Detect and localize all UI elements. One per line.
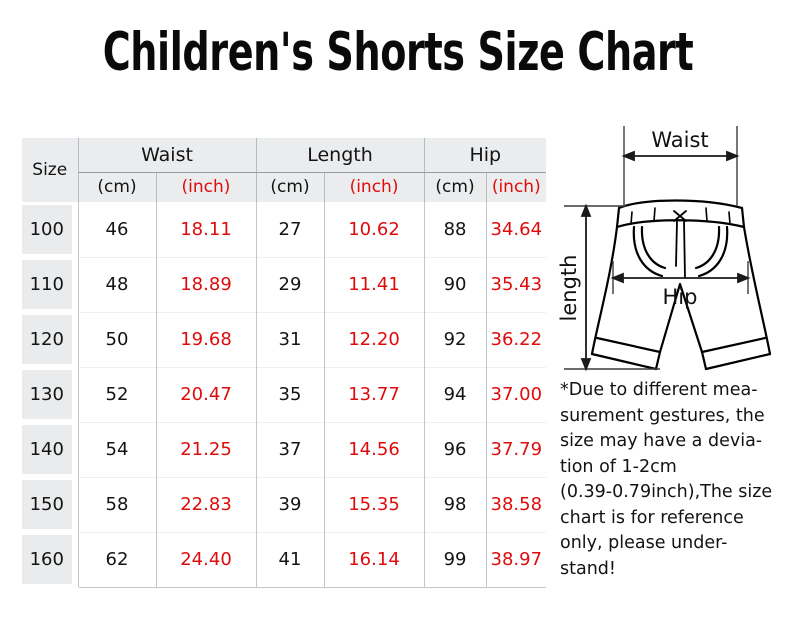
table-row: 1104818.892911.419035.43 — [22, 257, 546, 312]
right-pocket-outer — [699, 227, 727, 276]
size-value: 150 — [22, 480, 72, 529]
left-pocket-inner — [642, 227, 665, 268]
cell-size: 150 — [22, 477, 78, 532]
table-row: 1505822.833915.359838.58 — [22, 477, 546, 532]
cell-waist-inch: 24.40 — [156, 532, 256, 588]
cell-hip-inch: 36.22 — [486, 312, 546, 367]
cell-waist-cm: 52 — [78, 367, 156, 422]
cell-waist-cm: 48 — [78, 257, 156, 312]
cell-waist-inch: 18.89 — [156, 257, 256, 312]
cell-size: 120 — [22, 312, 78, 367]
table-row: 1004618.112710.628834.64 — [22, 202, 546, 257]
cell-length-cm: 31 — [256, 312, 324, 367]
header-unit-length-inch: (inch) — [324, 172, 424, 202]
header-unit-hip-cm: (cm) — [424, 172, 486, 202]
belt-tick-3 — [706, 208, 707, 221]
cell-length-cm: 37 — [256, 422, 324, 477]
page-title: Children's Shorts Size Chart — [80, 23, 717, 83]
cell-hip-inch: 38.97 — [486, 532, 546, 588]
disclaimer-line: size may have a devia- — [560, 429, 794, 455]
cell-length-cm: 27 — [256, 202, 324, 257]
cell-waist-cm: 54 — [78, 422, 156, 477]
size-value: 110 — [22, 260, 72, 309]
size-value: 160 — [22, 535, 72, 584]
cell-waist-inch: 20.47 — [156, 367, 256, 422]
header-unit-row: (cm) (inch) (cm) (inch) (cm) (inch) — [22, 172, 546, 202]
cell-length-inch: 11.41 — [324, 257, 424, 312]
cell-length-inch: 10.62 — [324, 202, 424, 257]
size-table-container: Size Waist Length Hip (cm) (inch) (cm) (… — [22, 138, 546, 588]
size-value: 120 — [22, 315, 72, 364]
right-hem-edge — [702, 352, 706, 369]
right-hem-top — [702, 338, 765, 352]
header-size: Size — [22, 138, 78, 202]
cell-hip-cm: 98 — [424, 477, 486, 532]
length-label: length — [557, 255, 581, 322]
cell-hip-cm: 96 — [424, 422, 486, 477]
size-value: 100 — [22, 205, 72, 254]
header-unit-hip-inch: (inch) — [486, 172, 546, 202]
cell-length-inch: 13.77 — [324, 367, 424, 422]
cell-hip-cm: 99 — [424, 532, 486, 588]
header-group-length: Length — [256, 138, 424, 172]
cell-length-cm: 41 — [256, 532, 324, 588]
cell-hip-inch: 37.00 — [486, 367, 546, 422]
disclaimer-line: (0.39-0.79inch),The size — [560, 480, 794, 506]
table-row: 1305220.473513.779437.00 — [22, 367, 546, 422]
cell-hip-cm: 88 — [424, 202, 486, 257]
cell-hip-inch: 34.64 — [486, 202, 546, 257]
waist-label: Waist — [651, 128, 708, 152]
waistband-top — [619, 201, 742, 209]
length-arrowhead-bottom — [582, 359, 590, 369]
disclaimer-note: *Due to different mea-surement gestures,… — [560, 378, 794, 582]
header-group-waist: Waist — [78, 138, 256, 172]
hip-label: Hip — [663, 285, 698, 309]
disclaimer-line: *Due to different mea- — [560, 378, 794, 404]
disclaimer-line: only, please under- — [560, 531, 794, 557]
cell-size: 130 — [22, 367, 78, 422]
cell-size: 110 — [22, 257, 78, 312]
cell-waist-inch: 19.68 — [156, 312, 256, 367]
drawstring-cord-left — [676, 221, 677, 266]
cell-waist-inch: 21.25 — [156, 422, 256, 477]
header-unit-length-cm: (cm) — [256, 172, 324, 202]
belt-tick-2 — [654, 208, 655, 221]
cell-length-inch: 12.20 — [324, 312, 424, 367]
disclaimer-line: stand! — [560, 557, 794, 583]
cell-hip-cm: 90 — [424, 257, 486, 312]
cell-waist-cm: 58 — [78, 477, 156, 532]
cell-length-inch: 16.14 — [324, 532, 424, 588]
cell-hip-inch: 37.79 — [486, 422, 546, 477]
right-pocket-inner — [696, 227, 719, 268]
cell-length-inch: 15.35 — [324, 477, 424, 532]
belt-tick-4 — [729, 212, 730, 224]
size-chart-page: Children's Shorts Size Chart Size Waist … — [0, 0, 796, 624]
disclaimer-line: surement gestures, the — [560, 404, 794, 430]
size-value: 130 — [22, 370, 72, 419]
right-hem-bottom — [706, 354, 770, 369]
size-table: Size Waist Length Hip (cm) (inch) (cm) (… — [22, 138, 546, 588]
left-hem-edge — [656, 352, 660, 369]
cell-size: 100 — [22, 202, 78, 257]
left-hem-bottom — [592, 354, 656, 369]
belt-tick-1 — [631, 212, 632, 224]
cell-length-cm: 29 — [256, 257, 324, 312]
hip-arrowhead-left — [613, 274, 623, 282]
cell-size: 160 — [22, 532, 78, 588]
cell-hip-cm: 92 — [424, 312, 486, 367]
table-row: 1606224.404116.149938.97 — [22, 532, 546, 588]
cell-size: 140 — [22, 422, 78, 477]
cell-length-cm: 35 — [256, 367, 324, 422]
disclaimer-line: tion of 1-2cm — [560, 455, 794, 481]
left-hem-top — [597, 338, 660, 352]
header-unit-waist-inch: (inch) — [156, 172, 256, 202]
waist-arrowhead-right — [727, 152, 737, 160]
cell-waist-inch: 22.83 — [156, 477, 256, 532]
disclaimer-line: chart is for reference — [560, 506, 794, 532]
table-row: 1405421.253714.569637.79 — [22, 422, 546, 477]
cell-length-inch: 14.56 — [324, 422, 424, 477]
header-group-hip: Hip — [424, 138, 546, 172]
left-pocket-outer — [634, 227, 662, 276]
header-unit-waist-cm: (cm) — [78, 172, 156, 202]
cell-hip-cm: 94 — [424, 367, 486, 422]
waist-arrowhead-left — [624, 152, 634, 160]
length-arrowhead-top — [582, 206, 590, 216]
table-row: 1205019.683112.209236.22 — [22, 312, 546, 367]
cell-length-cm: 39 — [256, 477, 324, 532]
shorts-diagram: Waist length Hip — [556, 126, 792, 372]
size-value: 140 — [22, 425, 72, 474]
cell-waist-cm: 46 — [78, 202, 156, 257]
hip-arrowhead-right — [738, 274, 748, 282]
drawstring-cord-right — [684, 221, 685, 278]
cell-waist-cm: 50 — [78, 312, 156, 367]
cell-waist-cm: 62 — [78, 532, 156, 588]
cell-hip-inch: 38.58 — [486, 477, 546, 532]
cell-hip-inch: 35.43 — [486, 257, 546, 312]
header-group-row: Size Waist Length Hip — [22, 138, 546, 172]
table-header: Size Waist Length Hip (cm) (inch) (cm) (… — [22, 138, 546, 202]
cell-waist-inch: 18.11 — [156, 202, 256, 257]
table-body: 1004618.112710.628834.641104818.892911.4… — [22, 202, 546, 588]
